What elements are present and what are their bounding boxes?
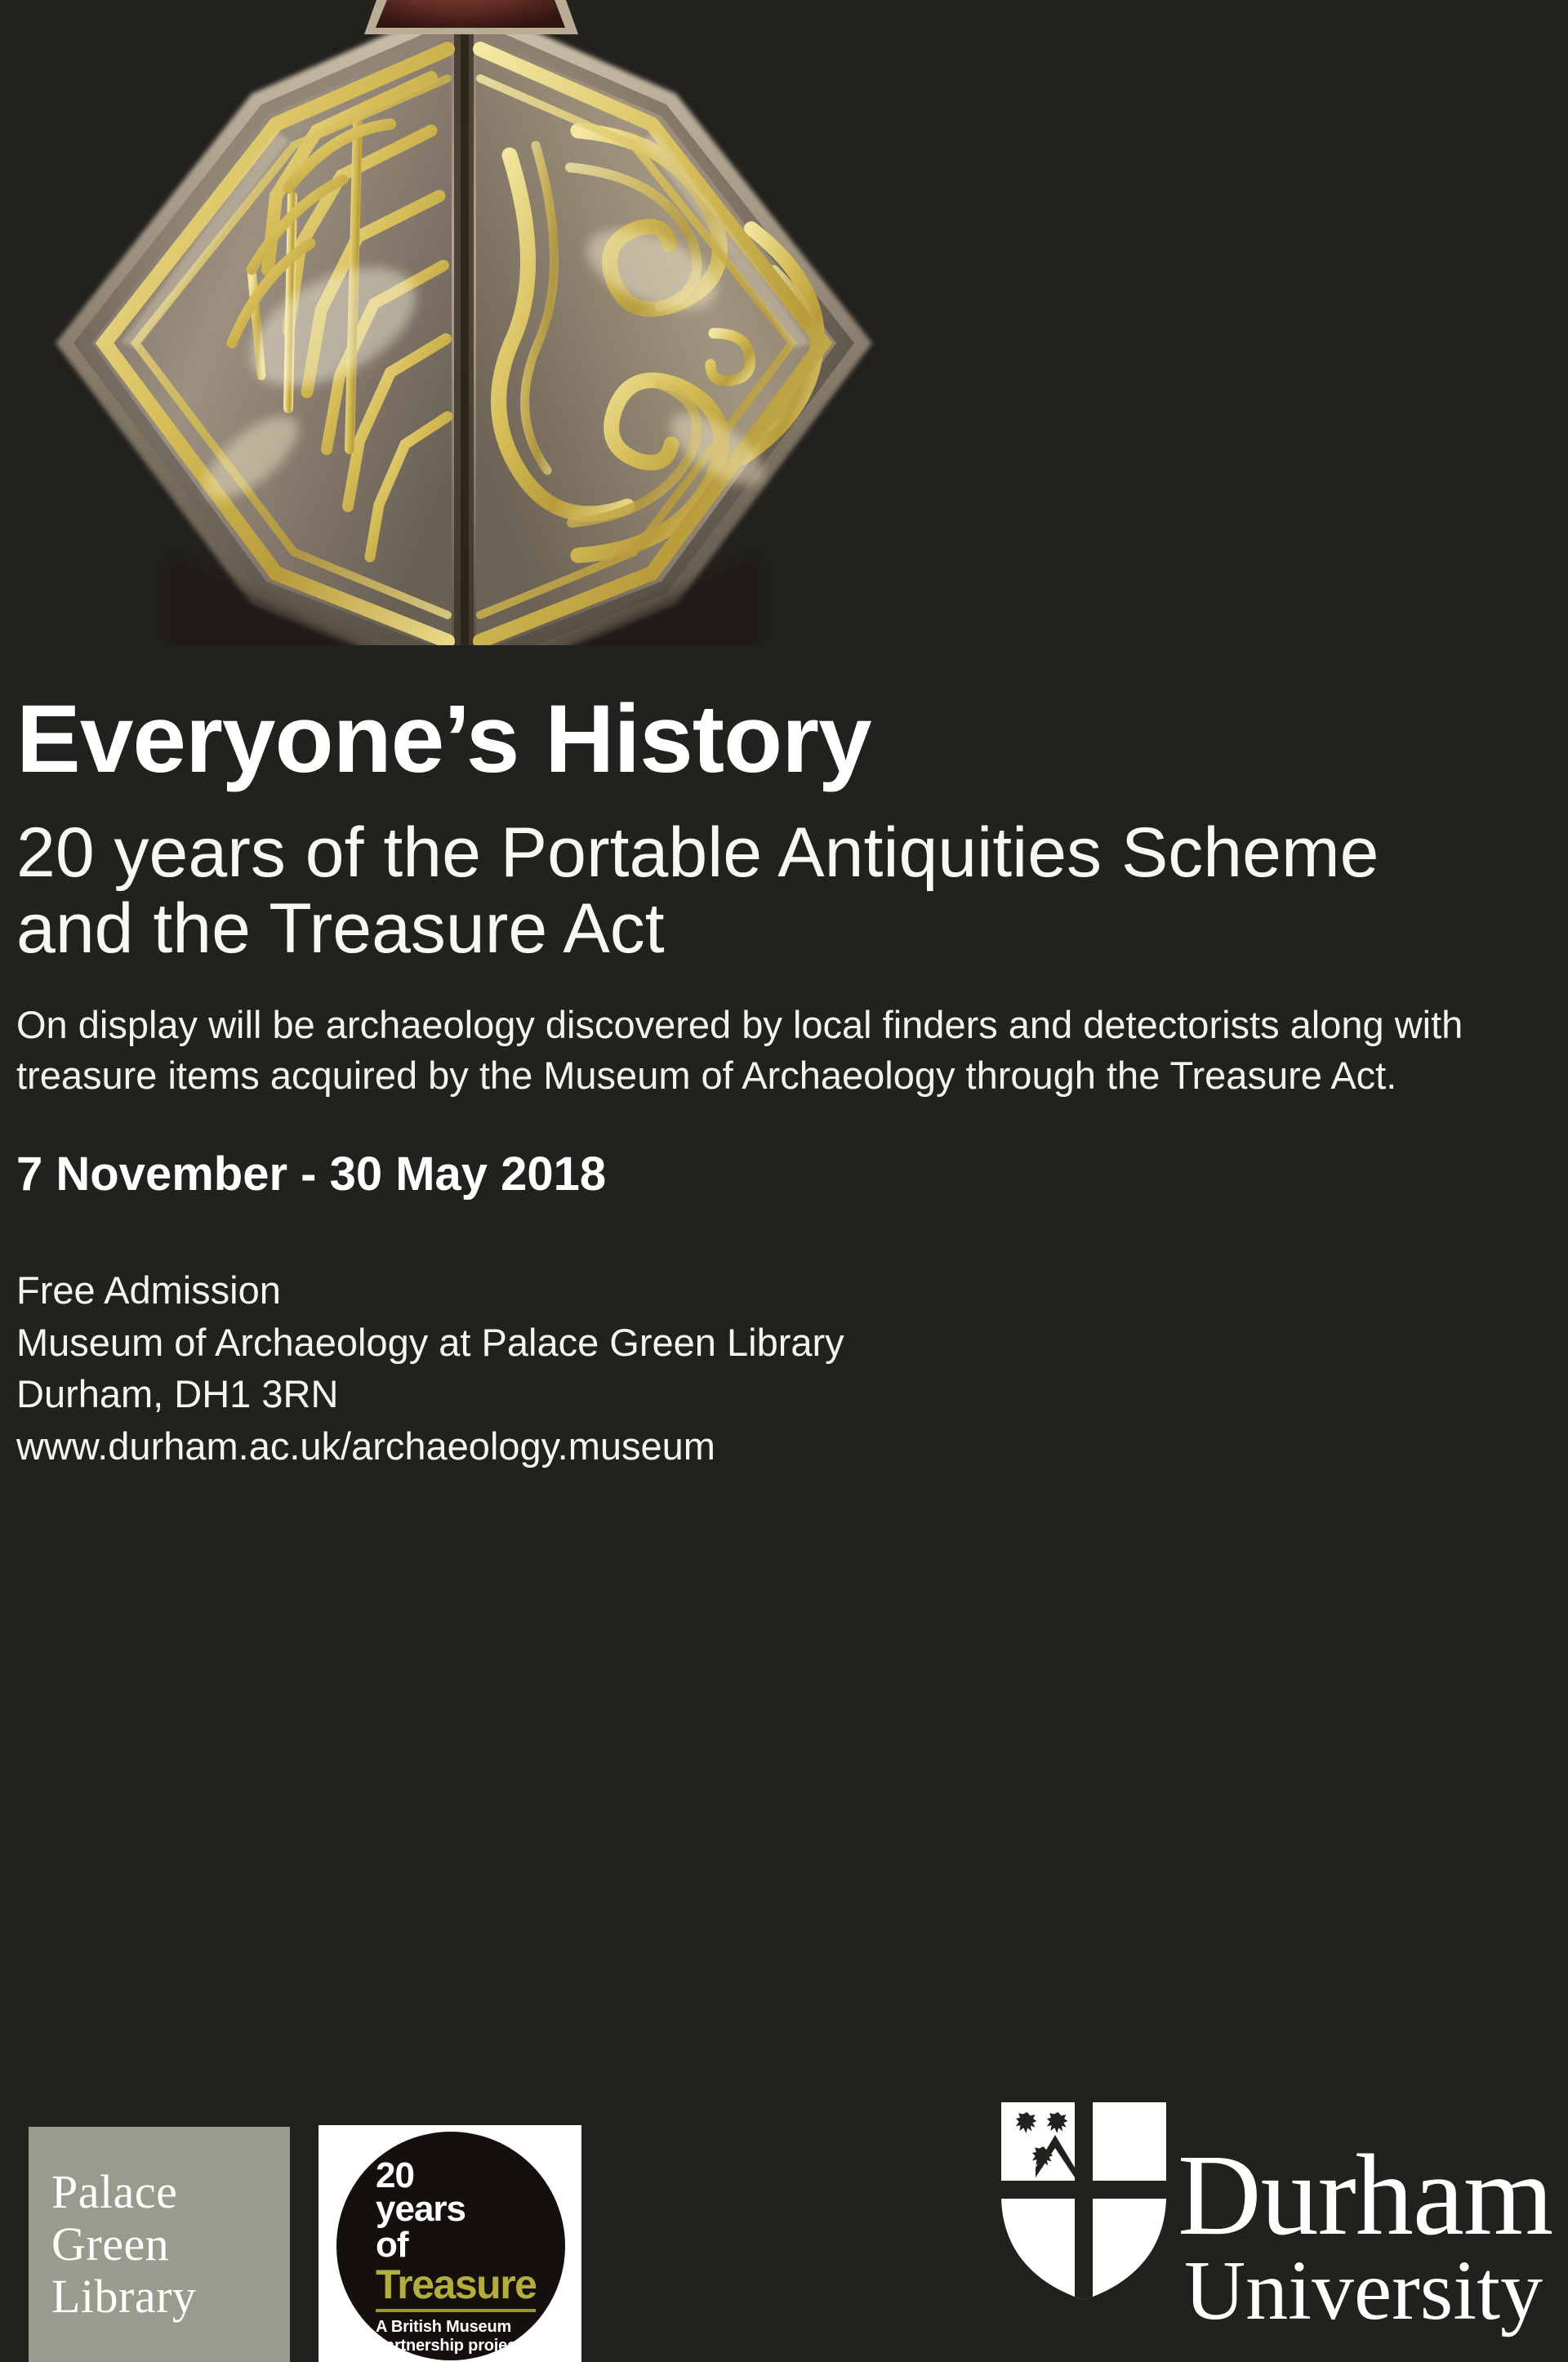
- admission-line: Free Admission: [16, 1264, 1552, 1317]
- palace-green-library-logo[interactable]: Palace Green Library: [29, 2127, 290, 2362]
- treasure-divider-rule: [376, 2309, 536, 2312]
- exhibition-poster: Everyone’s History 20 years of the Porta…: [0, 0, 1568, 2362]
- treasure-strapline-1: A British Museum: [376, 2318, 549, 2337]
- treasure-lockup: 20 years of Treasure A British Museum pa…: [376, 2159, 549, 2356]
- page-subtitle: 20 years of the Portable Antiquities Sch…: [16, 815, 1421, 967]
- website-link[interactable]: www.durham.ac.uk/archaeology.museum: [16, 1420, 1552, 1473]
- exhibition-dates: 7 November - 30 May 2018: [16, 1148, 1552, 1201]
- venue-details: Free Admission Museum of Archaeology at …: [16, 1264, 1552, 1473]
- durham-shield-icon: [996, 2099, 1171, 2303]
- pgl-line-3: Library: [51, 2271, 290, 2323]
- pgl-line-1: Palace: [51, 2166, 290, 2218]
- artefact-photo: [0, 0, 947, 645]
- durham-word-line-2: University: [1178, 2248, 1552, 2333]
- poster-text-block: Everyone’s History 20 years of the Porta…: [16, 691, 1552, 1473]
- page-title: Everyone’s History: [16, 691, 1552, 787]
- treasure-line-years: years: [376, 2192, 549, 2226]
- pgl-line-2: Green: [51, 2218, 290, 2271]
- address-line: Durham, DH1 3RN: [16, 1368, 1552, 1420]
- treasure-line-20: 20: [376, 2159, 549, 2192]
- durham-word-line-1: Durham: [1178, 2141, 1552, 2248]
- treasure-circle: 20 years of Treasure A British Museum pa…: [336, 2132, 565, 2360]
- logo-row: Palace Green Library 20 years of Treasur…: [0, 2084, 1568, 2362]
- durham-university-logo[interactable]: Durham University: [996, 2099, 1568, 2362]
- venue-line: Museum of Archaeology at Palace Green Li…: [16, 1317, 1552, 1369]
- twenty-years-of-treasure-logo[interactable]: 20 years of Treasure A British Museum pa…: [318, 2125, 581, 2362]
- durham-wordmark: Durham University: [1178, 2141, 1552, 2333]
- exhibition-description: On display will be archaeology discovere…: [16, 1000, 1552, 1101]
- pyramidal-mount-image: [7, 0, 921, 645]
- treasure-line-of: of: [376, 2227, 549, 2262]
- treasure-line-treasure: Treasure: [376, 2264, 549, 2306]
- treasure-strapline-2: partnership project: [376, 2337, 549, 2356]
